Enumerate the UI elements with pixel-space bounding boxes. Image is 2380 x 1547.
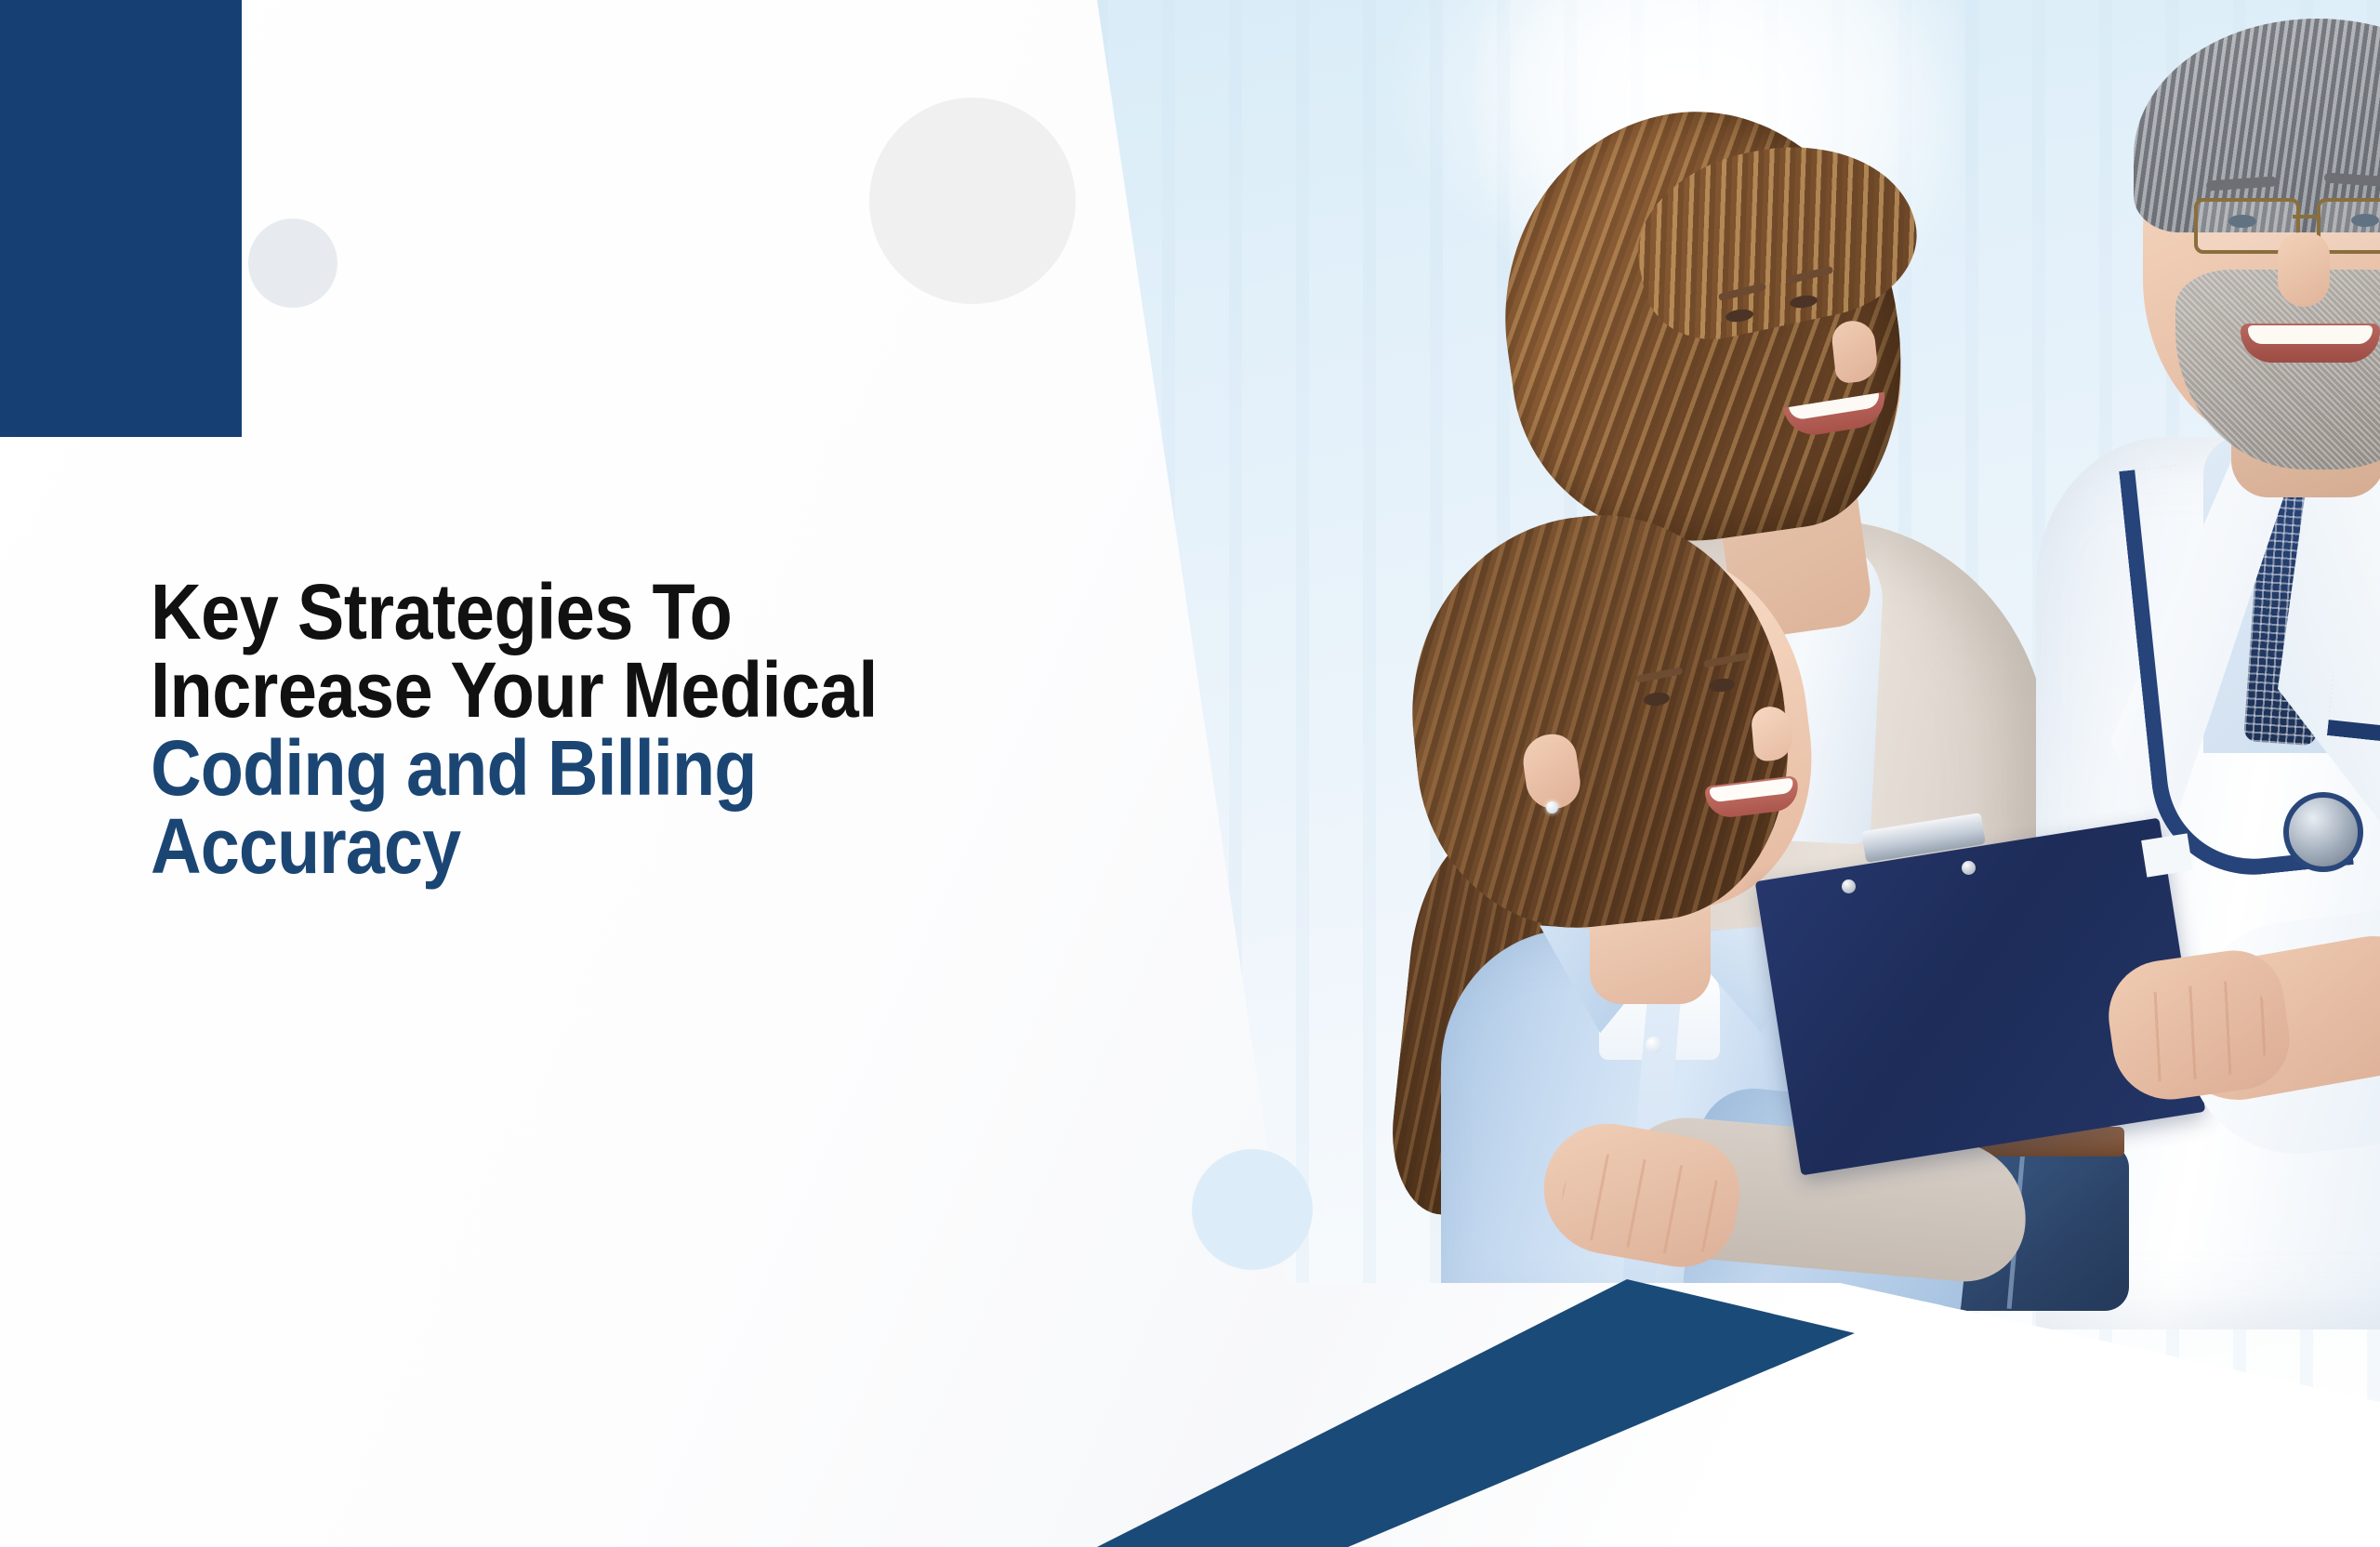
top-left-navy-triangle — [0, 0, 242, 437]
hero-banner: Key Strategies To Increase Your Medical … — [0, 0, 2380, 1547]
daughter-earring — [1546, 801, 1558, 813]
headline-line-4: Accuracy — [151, 807, 1096, 885]
headline-line-3: Coding and Billing — [151, 729, 1096, 807]
light-blue-circle — [1192, 1149, 1313, 1270]
doctor-smile — [2241, 324, 2380, 363]
small-gray-circle — [248, 218, 337, 308]
eyeglasses-bridge — [2293, 215, 2317, 218]
doctor-nose — [2278, 232, 2330, 307]
headline-line-2: Increase Your Medical — [151, 651, 1096, 729]
headline-line-1: Key Strategies To — [151, 573, 1096, 651]
doctor-teeth — [2248, 325, 2373, 344]
stethoscope-icon — [2283, 792, 2363, 872]
clipboard-rivet — [1842, 879, 1856, 893]
large-gray-circle — [869, 98, 1076, 304]
clipboard-rivet — [1962, 861, 1976, 875]
clipboard-paper — [2141, 833, 2193, 877]
page-title: Key Strategies To Increase Your Medical … — [151, 573, 1096, 885]
daughter-shirt-button — [1646, 1037, 1662, 1053]
